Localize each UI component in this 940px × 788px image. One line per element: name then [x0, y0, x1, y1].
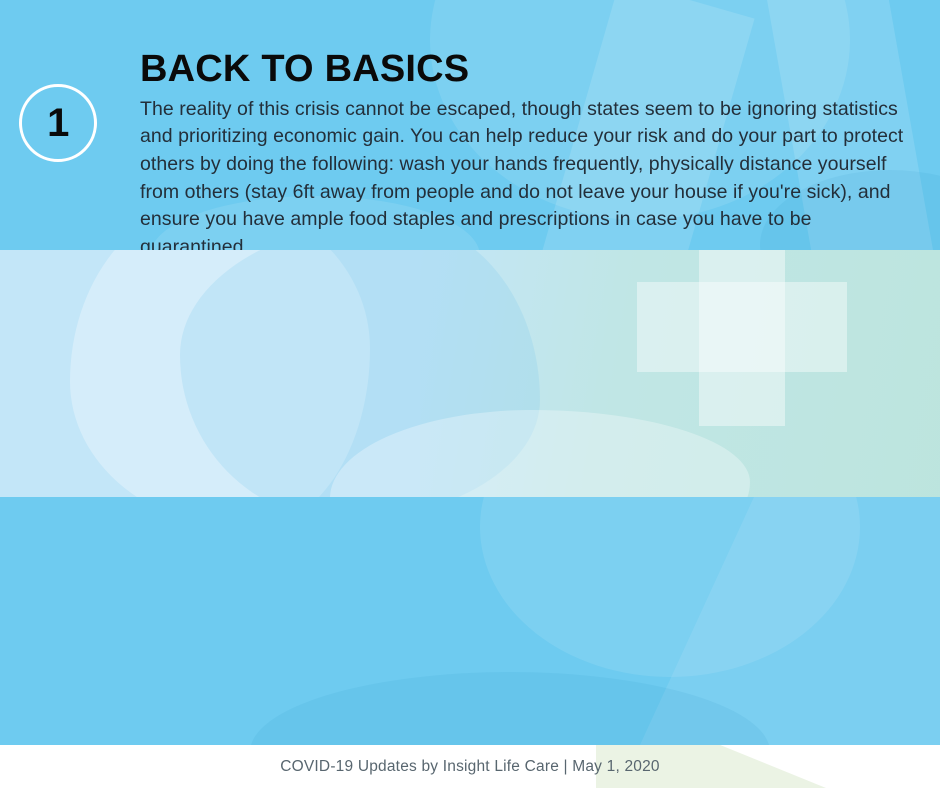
step-number-1: 1 — [47, 103, 69, 143]
diagonal-wedge-watermark — [640, 497, 940, 745]
leaf-shape-watermark-1 — [70, 250, 370, 497]
step-number-badge-1: 1 — [19, 84, 97, 162]
section-3-band: 3 CORONAVIRUS HOMESCHOOLING Almost 80 pe… — [0, 497, 940, 745]
footer-credit: COVID-19 Updates by Insight Life Care | … — [0, 745, 940, 788]
infographic-canvas: 1 BACK TO BASICS The reality of this cri… — [0, 0, 940, 788]
medical-cross-watermark-arm — [637, 282, 847, 372]
section-1-band: 1 BACK TO BASICS The reality of this cri… — [0, 0, 940, 250]
section-1-body: The reality of this crisis cannot be esc… — [140, 96, 922, 251]
footer-band: COVID-19 Updates by Insight Life Care | … — [0, 745, 940, 788]
section-1-headline: BACK TO BASICS — [140, 50, 469, 90]
section-2-band: 2 PROTESTS IN MICHIGAN Armed protestors … — [0, 250, 940, 497]
